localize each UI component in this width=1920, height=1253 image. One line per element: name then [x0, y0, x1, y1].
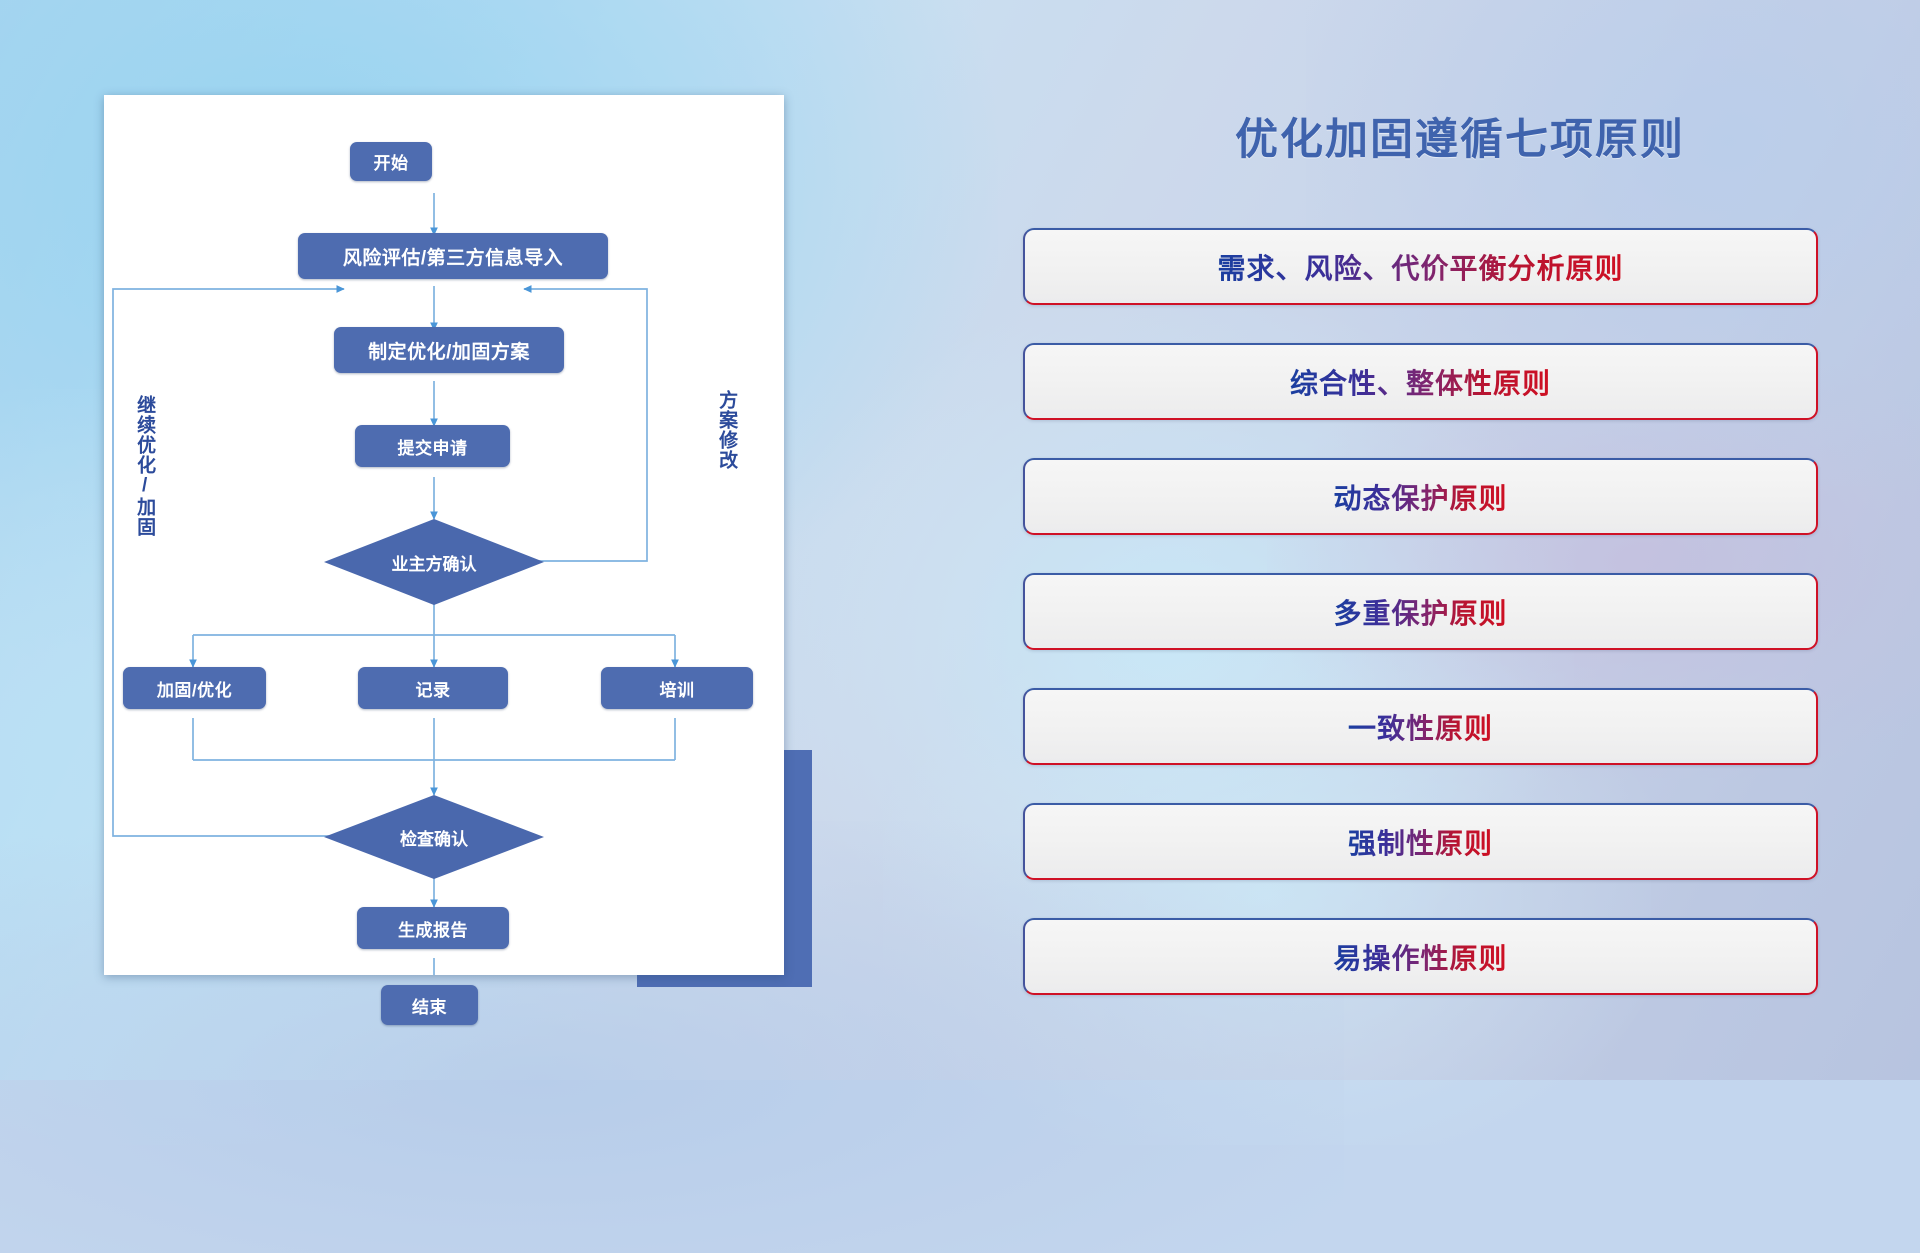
flow-node-generate-report[interactable]: 生成报告 — [357, 907, 509, 949]
flow-node-record[interactable]: 记录 — [358, 667, 508, 709]
principle-item-3-label: 动态保护原则 — [1333, 477, 1507, 517]
principle-item-6[interactable]: 强制性原则 — [1023, 803, 1818, 880]
flow-edge-label-plan-revision: 方案修改 — [716, 390, 736, 470]
flow-node-start[interactable]: 开始 — [350, 142, 432, 181]
flowchart: 开始 风险评估/第三方信息导入 制定优化/加固方案 提交申请 业主方确认 加固/… — [104, 95, 784, 975]
flow-node-risk-assessment[interactable]: 风险评估/第三方信息导入 — [298, 233, 608, 279]
flowchart-card: 开始 风险评估/第三方信息导入 制定优化/加固方案 提交申请 业主方确认 加固/… — [104, 95, 784, 975]
principle-item-1-label: 需求、风险、代价平衡分析原则 — [1217, 247, 1623, 287]
flow-node-submit-application-label: 提交申请 — [398, 434, 468, 459]
principle-item-2-label: 综合性、整体性原则 — [1290, 362, 1551, 402]
flow-node-training-label: 培训 — [660, 676, 695, 701]
flow-node-plan[interactable]: 制定优化/加固方案 — [334, 327, 564, 373]
principle-item-2[interactable]: 综合性、整体性原则 — [1023, 343, 1818, 420]
flow-node-training[interactable]: 培训 — [601, 667, 753, 709]
principles-list: 需求、风险、代价平衡分析原则 综合性、整体性原则 动态保护原则 多重保护原则 一… — [1023, 228, 1818, 1033]
principle-item-7-label: 易操作性原则 — [1333, 937, 1507, 977]
principle-item-3[interactable]: 动态保护原则 — [1023, 458, 1818, 535]
principles-panel-title: 优化加固遵循七项原则 — [1000, 105, 1920, 167]
flow-node-owner-confirm[interactable]: 业主方确认 — [324, 519, 544, 605]
principle-item-5[interactable]: 一致性原则 — [1023, 688, 1818, 765]
flow-node-reinforce-label: 加固/优化 — [157, 676, 232, 701]
flow-node-plan-label: 制定优化/加固方案 — [368, 337, 530, 364]
principle-item-4[interactable]: 多重保护原则 — [1023, 573, 1818, 650]
principle-item-7[interactable]: 易操作性原则 — [1023, 918, 1818, 995]
flow-node-owner-confirm-label: 业主方确认 — [392, 550, 477, 575]
principle-item-6-label: 强制性原则 — [1348, 822, 1493, 862]
flow-node-generate-report-label: 生成报告 — [398, 916, 468, 941]
principles-panel: 优化加固遵循七项原则 需求、风险、代价平衡分析原则 综合性、整体性原则 动态保护… — [1000, 0, 1920, 1080]
principle-item-1[interactable]: 需求、风险、代价平衡分析原则 — [1023, 228, 1818, 305]
flow-node-record-label: 记录 — [416, 676, 451, 701]
flow-node-end[interactable]: 结束 — [381, 985, 478, 1025]
flow-node-end-label: 结束 — [412, 993, 447, 1018]
flow-node-check-confirm[interactable]: 检查确认 — [324, 795, 544, 879]
flow-node-submit-application[interactable]: 提交申请 — [355, 425, 510, 467]
flow-node-risk-assessment-label: 风险评估/第三方信息导入 — [343, 243, 563, 270]
flow-node-check-confirm-label: 检查确认 — [400, 825, 468, 850]
flow-edge-label-continue-optimize: 继续优化/加固 — [134, 395, 154, 537]
principle-item-5-label: 一致性原则 — [1348, 707, 1493, 747]
flow-node-reinforce[interactable]: 加固/优化 — [123, 667, 266, 709]
principle-item-4-label: 多重保护原则 — [1333, 592, 1507, 632]
flow-node-start-label: 开始 — [374, 149, 409, 174]
